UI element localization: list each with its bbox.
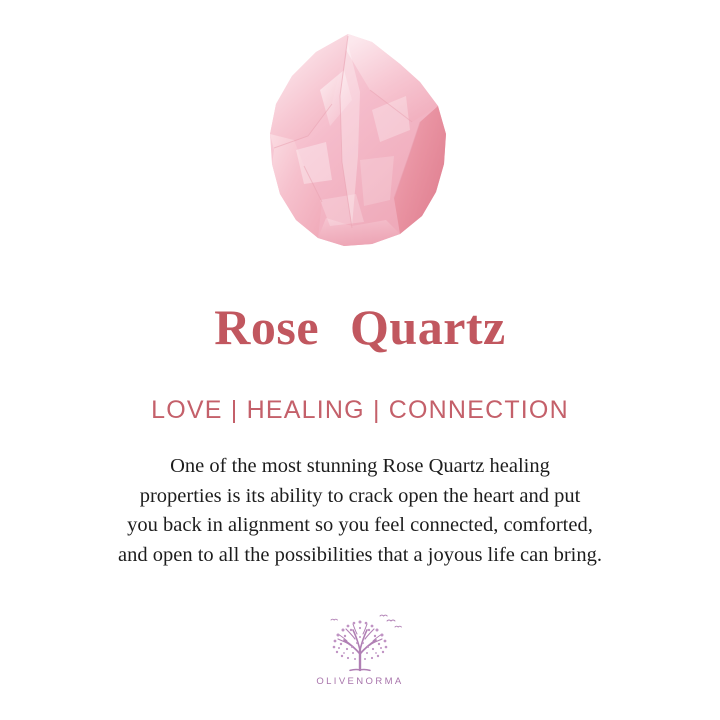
description-line: you back in alignment so you feel connec… xyxy=(28,511,692,541)
crystal-highlight-4 xyxy=(360,156,394,206)
rose-quartz-crystal-icon xyxy=(260,30,460,255)
brand-logo: OLIVENORMA xyxy=(0,612,720,687)
subtitle-keywords: LOVE | HEALING | CONNECTION xyxy=(0,395,720,425)
tree-logo-icon xyxy=(317,612,403,674)
description-line: and open to all the possibilities that a… xyxy=(28,541,692,571)
description-line: One of the most stunning Rose Quartz hea… xyxy=(28,452,692,482)
rose-quartz-info-card: Rose Quartz LOVE | HEALING | CONNECTION … xyxy=(0,0,720,720)
description-line: properties is its ability to crack open … xyxy=(28,482,692,512)
page-title: Rose Quartz xyxy=(0,300,720,355)
hero-image-container xyxy=(0,30,720,265)
description-paragraph: One of the most stunning Rose Quartz hea… xyxy=(28,452,692,570)
brand-wordmark: OLIVENORMA xyxy=(316,676,403,687)
